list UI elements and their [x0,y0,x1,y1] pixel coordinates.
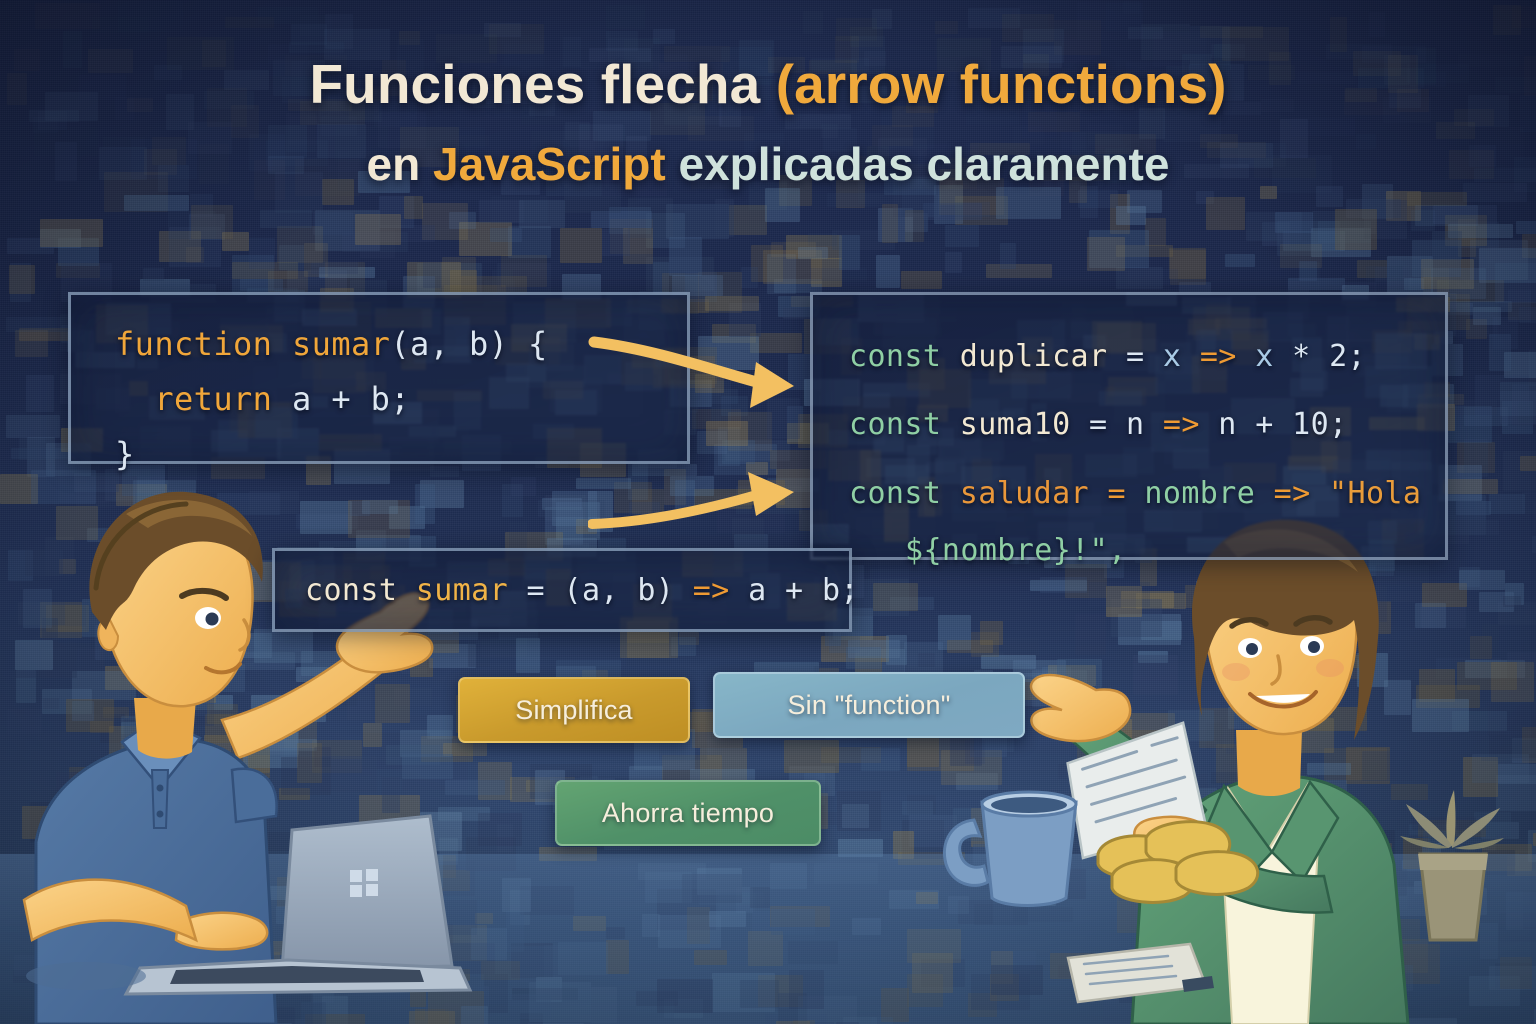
subtitle-part-javascript: JavaScript [433,138,666,190]
title-part-arrow-functions: (arrow functions) [776,53,1227,115]
code-line: const saludar = nombre => "Hola [849,460,1445,528]
code-line: return a + b; [115,372,687,427]
title-line-1: Funciones flecha (arrow functions) [0,54,1536,116]
desk-objects [930,780,1270,960]
title-line-2: en JavaScript explicadas claramente [0,138,1536,191]
subtitle-part-en: en [367,138,433,190]
traditional-function-panel: function sumar(a, b) { return a + b; } [68,292,690,464]
poster-canvas: Funciones flecha (arrow functions) en Ja… [0,0,1536,1024]
code-line: ${nombre}!", [849,528,1445,575]
badge-sin-function[interactable]: Sin "function" [713,672,1025,738]
code-line: const suma10 = n => n + 10; [849,391,1445,459]
coffee-mug [982,802,1076,906]
code-line: } [115,427,687,482]
page-title: Funciones flecha (arrow functions) en Ja… [0,54,1536,190]
toast-slices [1098,822,1258,903]
subtitle-part-explicadas: explicadas claramente [666,138,1170,190]
arrow-function-equivalent-panel: const sumar = (a, b) => a + b; [272,548,852,632]
code-line: function sumar(a, b) { [115,317,687,372]
code-line: const sumar = (a, b) => a + b; [305,571,849,610]
title-part-funciones-flecha: Funciones flecha [309,53,775,115]
badge-simplifica[interactable]: Simplifica [458,677,690,743]
code-line: const duplicar = x => x * 2; [849,323,1445,391]
badge-ahorra-tiempo[interactable]: Ahorra tiempo [555,780,821,846]
arrow-function-examples-panel: const duplicar = x => x * 2; const suma1… [810,292,1448,560]
mug-handle-icon [944,820,988,885]
